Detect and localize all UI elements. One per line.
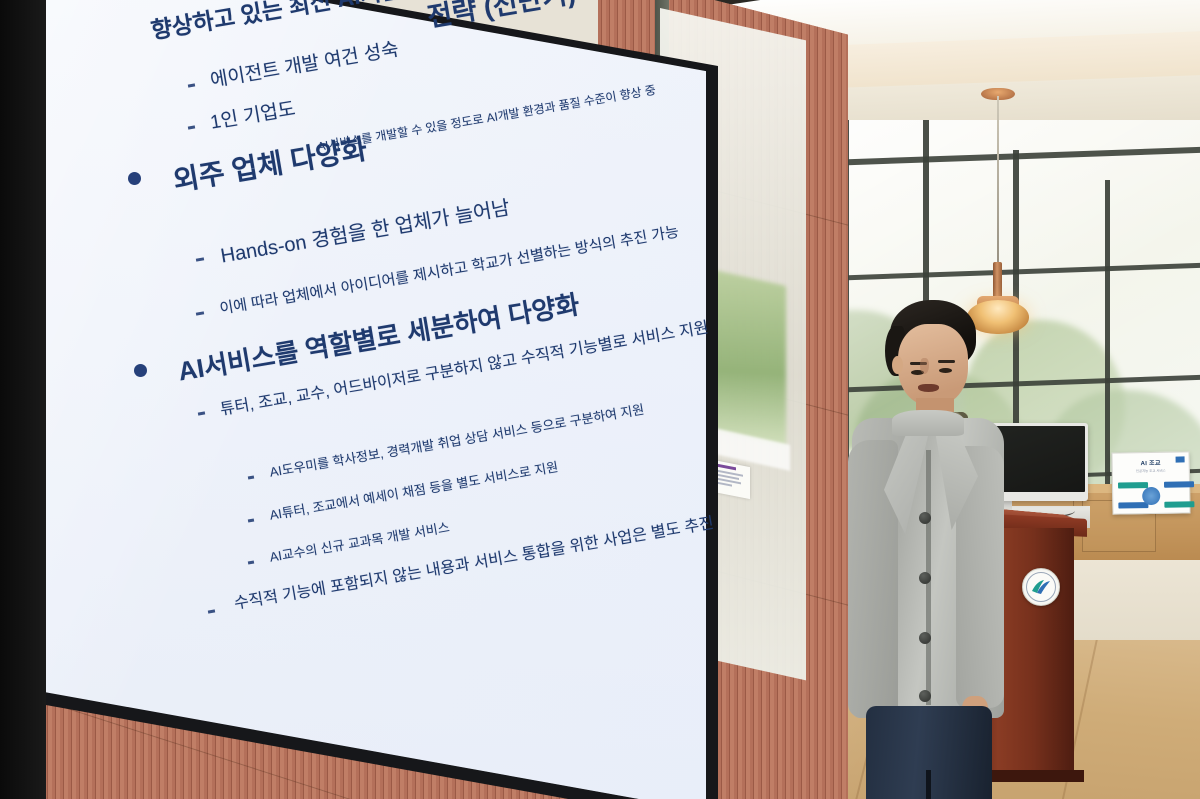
projection-screen	[22, 0, 706, 799]
placard-avatar-icon	[1142, 487, 1160, 505]
presenter-nose	[920, 358, 929, 374]
presenter-leg-split	[926, 770, 931, 799]
placard-body	[1118, 477, 1185, 514]
screen-left-dark-edge	[0, 0, 46, 799]
presenter-ear	[892, 356, 903, 374]
ai-assistant-placard: AI 조교 인공지능 조교 서비스	[1111, 451, 1190, 514]
university-seal-icon	[1022, 568, 1060, 606]
presentation-room-photo: AI 조교 인공지능 조교 서비스	[0, 0, 1200, 799]
presenter-face	[898, 324, 968, 406]
jacket-button	[919, 512, 931, 524]
placard-logo-icon	[1176, 456, 1185, 462]
presenter-collar	[892, 410, 964, 436]
jacket-button	[919, 690, 931, 702]
jacket-button	[919, 632, 931, 644]
presenter-mouth	[918, 384, 939, 392]
placard-subtitle: 인공지능 조교 서비스	[1118, 467, 1184, 473]
jacket-button	[919, 572, 931, 584]
presenter	[830, 300, 1020, 799]
placard-title: AI 조교	[1118, 457, 1184, 467]
